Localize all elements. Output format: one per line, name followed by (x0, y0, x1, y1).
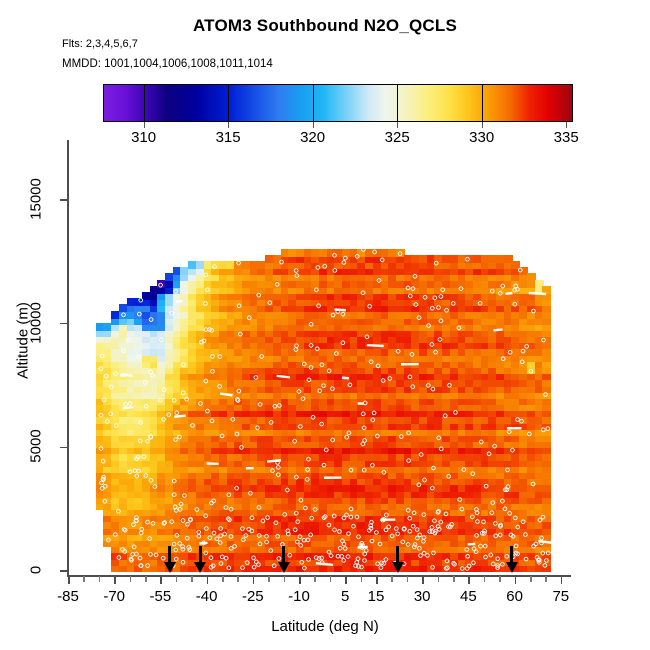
x-axis-tick (176, 576, 178, 582)
colorbar-divider (144, 84, 145, 122)
x-axis-tick (130, 576, 132, 582)
x-axis-label: Latitude (deg N) (0, 618, 650, 635)
x-axis-tick-label: 15 (368, 588, 385, 605)
x-axis-tick (207, 576, 209, 584)
x-axis-tick (99, 576, 101, 582)
y-axis-tick (60, 199, 68, 201)
colorbar-divider (228, 84, 229, 122)
x-axis-tick (391, 576, 393, 582)
y-axis-label: Altitude (m) (15, 281, 32, 401)
colorbar-tick (397, 122, 398, 128)
colorbar-tick (482, 122, 483, 128)
x-axis-tick-label: -25 (242, 588, 264, 605)
x-axis-tick (145, 576, 147, 582)
x-axis-tick-label: -85 (57, 588, 79, 605)
x-axis-tick (345, 576, 347, 584)
x-axis-tick (83, 576, 85, 582)
x-axis-tick-label: -10 (288, 588, 310, 605)
x-axis-tick (68, 576, 70, 584)
x-axis-tick (453, 576, 455, 582)
dates-annotation: MMDD: 1001,1004,1006,1008,1011,1014 (62, 58, 273, 70)
heatmap-plot (68, 140, 570, 575)
y-axis-tick-label: 5000 (28, 430, 45, 463)
colorbar-tick (144, 122, 145, 128)
x-axis-tick-label: -40 (196, 588, 218, 605)
x-axis-tick (237, 576, 239, 582)
flights-annotation: Flts: 2,3,4,5,6,7 (62, 38, 138, 50)
figure-root: ATOM3 Southbound N2O_QCLS Flts: 2,3,4,5,… (0, 0, 650, 650)
colorbar-divider (482, 84, 483, 122)
y-axis-tick-label: 15000 (28, 178, 45, 220)
x-axis-tick (299, 576, 301, 584)
y-axis-tick (60, 323, 68, 325)
x-axis-tick (222, 576, 224, 582)
x-axis-tick (515, 576, 517, 584)
y-axis-tick (60, 447, 68, 449)
colorbar-gradient (103, 84, 573, 122)
x-axis-tick (160, 576, 162, 584)
colorbar-tick (313, 122, 314, 128)
colorbar-divider (313, 84, 314, 122)
x-axis-tick (191, 576, 193, 582)
x-axis-tick (268, 576, 270, 582)
x-axis-tick (484, 576, 486, 582)
y-axis-tick-label: 0 (28, 566, 45, 574)
x-axis-tick (545, 576, 547, 582)
x-axis-tick-label: 5 (341, 588, 349, 605)
colorbar-divider (397, 84, 398, 122)
x-axis-tick-label: 45 (460, 588, 477, 605)
x-axis-tick (468, 576, 470, 584)
x-axis-tick-label: -55 (150, 588, 172, 605)
x-axis-tick-label: 60 (506, 588, 523, 605)
x-axis-tick (314, 576, 316, 582)
x-axis-tick-label: 30 (414, 588, 431, 605)
x-axis-tick (376, 576, 378, 584)
x-axis-tick (407, 576, 409, 582)
x-axis-tick-label: -70 (103, 588, 125, 605)
x-axis-tick (530, 576, 532, 582)
x-axis-tick (561, 576, 563, 584)
x-axis-tick-label: 75 (552, 588, 569, 605)
x-axis-tick (361, 576, 363, 582)
y-axis-tick (60, 570, 68, 572)
page-title: ATOM3 Southbound N2O_QCLS (0, 16, 650, 36)
x-axis-tick (438, 576, 440, 582)
colorbar: 310315320325330335 (103, 84, 573, 122)
x-axis-tick (422, 576, 424, 584)
x-axis-tick (284, 576, 286, 582)
x-axis-tick (330, 576, 332, 582)
x-axis-tick (114, 576, 116, 584)
x-axis-line (67, 575, 571, 577)
y-axis-line (67, 140, 69, 576)
colorbar-tick (566, 122, 567, 128)
colorbar-tick (228, 122, 229, 128)
x-axis-tick (253, 576, 255, 584)
x-axis-tick (499, 576, 501, 582)
heatmap-canvas (68, 140, 570, 575)
